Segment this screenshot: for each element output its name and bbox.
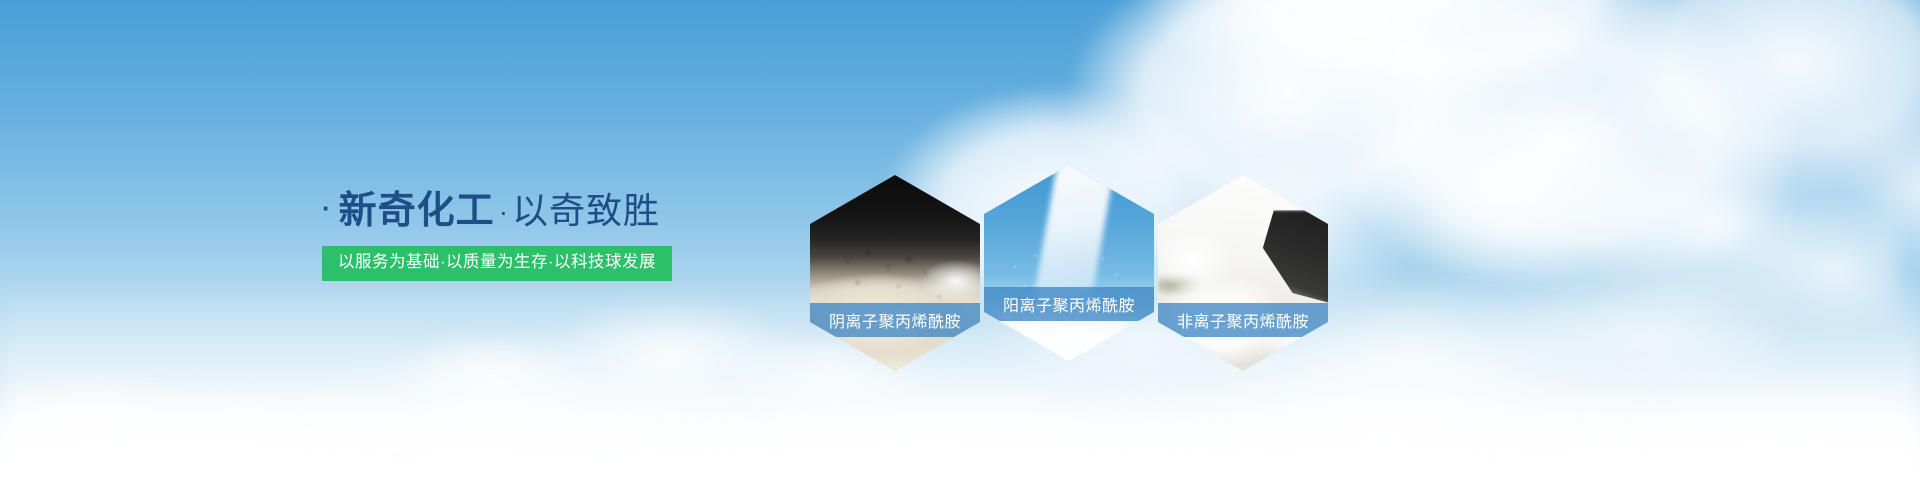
nonionic-polyacrylamide-heap-image xyxy=(1158,175,1328,371)
product-hexagon-group: 阴离子聚丙烯酰胺 阳离子聚丙烯酰胺 非离子聚丙烯酰胺 xyxy=(810,165,1330,365)
product-hexagon-cationic[interactable]: 阳离子聚丙烯酰胺 xyxy=(984,165,1154,361)
product-hexagon-anionic[interactable]: 阴离子聚丙烯酰胺 xyxy=(810,175,980,371)
product-label-nonionic: 非离子聚丙烯酰胺 xyxy=(1158,303,1328,337)
bottom-white-fade xyxy=(0,390,1920,500)
hero-banner: · 新奇化工 · 以奇致胜 以服务为基础·以质量为生存·以科技球发展 阴离子聚丙… xyxy=(0,0,1920,500)
anionic-polyacrylamide-granules-image xyxy=(810,175,980,371)
cationic-polyacrylamide-powder-image xyxy=(984,165,1154,361)
product-hexagon-nonionic[interactable]: 非离子聚丙烯酰胺 xyxy=(1158,175,1328,371)
company-name: 新奇化工 xyxy=(339,192,495,230)
cloud-far-left xyxy=(0,330,360,480)
product-label-anionic: 阴离子聚丙烯酰胺 xyxy=(810,303,980,337)
product-label-cationic: 阳离子聚丙烯酰胺 xyxy=(984,287,1154,321)
headline-lead-dot: · xyxy=(322,195,331,221)
tagline-badge: 以服务为基础·以质量为生存·以科技球发展 xyxy=(322,246,672,281)
headline-separator: · xyxy=(499,198,508,226)
headline-slogan: 以奇致胜 xyxy=(512,193,660,229)
